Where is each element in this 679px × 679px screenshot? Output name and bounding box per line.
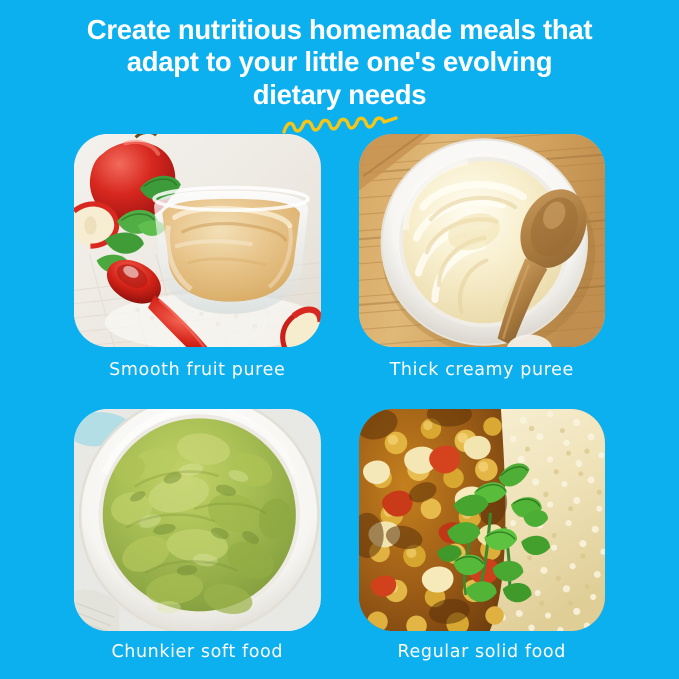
photo-green-chunky-puree-bowl	[74, 409, 321, 631]
photo-creamy-puree-white-bowl	[359, 134, 606, 347]
photo-apple-puree-glass-bowl	[74, 134, 321, 347]
grid-cell-thick-creamy-puree: Thick creamy puree	[359, 134, 606, 404]
page-title: Create nutritious homemade meals that ad…	[0, 0, 679, 111]
headline-line-2: adapt to your little one's evolving	[60, 46, 619, 78]
food-stage-grid: Smooth fruit puree	[0, 134, 679, 679]
headline-line-3: dietary needs	[60, 79, 619, 111]
tile-caption-smooth-fruit-puree: Smooth fruit puree	[109, 360, 285, 380]
headline-line-1: Create nutritious homemade meals that	[60, 14, 619, 46]
photo-chickpea-curry-couscous	[359, 409, 606, 631]
grid-cell-chunkier-soft-food: Chunkier soft food	[74, 409, 321, 679]
grid-cell-regular-solid-food: Regular solid food	[359, 409, 606, 679]
tile-caption-regular-solid-food: Regular solid food	[398, 642, 566, 662]
tile-caption-chunkier-soft-food: Chunkier soft food	[111, 642, 283, 662]
grid-cell-smooth-fruit-puree: Smooth fruit puree	[74, 134, 321, 404]
tile-caption-thick-creamy-puree: Thick creamy puree	[390, 360, 574, 380]
